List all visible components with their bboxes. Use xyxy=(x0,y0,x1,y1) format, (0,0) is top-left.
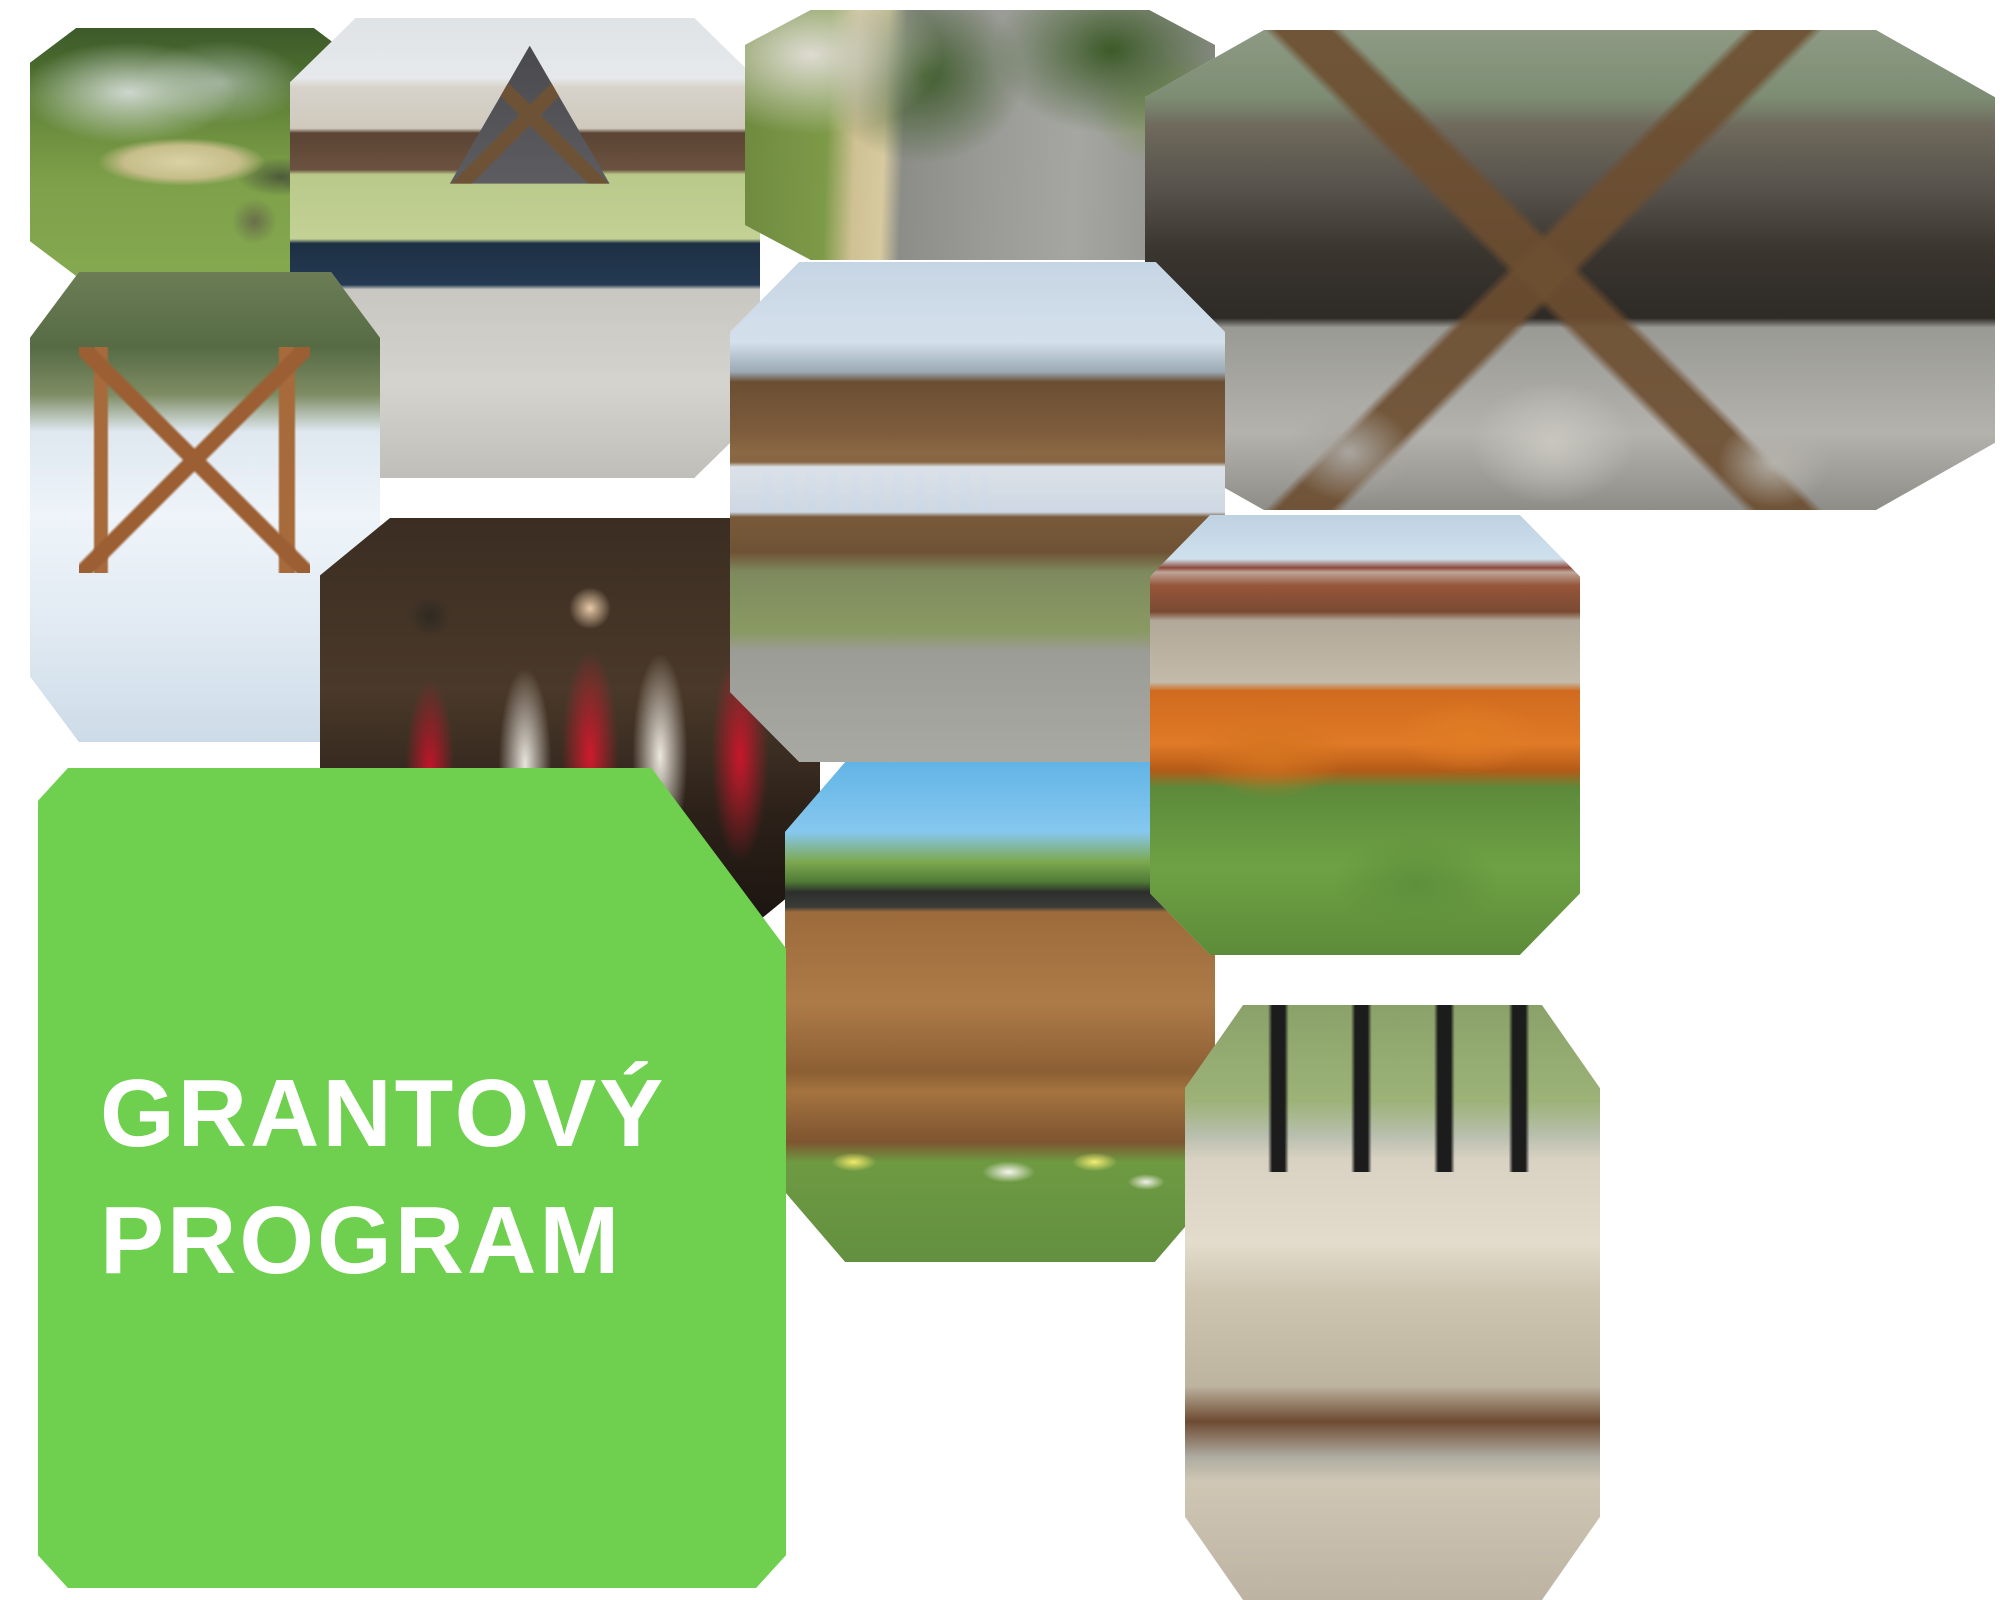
well-and-bench-photo xyxy=(1150,515,1580,955)
spring-well-image xyxy=(1145,30,1995,510)
village-road-photo xyxy=(745,10,1215,260)
museum-interior-image xyxy=(1185,1005,1600,1600)
page-title-line-2: PROGRAM xyxy=(100,1178,786,1305)
well-and-bench-image xyxy=(1150,515,1580,955)
grant-program-poster: GRANTOVÝ PROGRAM xyxy=(0,0,2000,1600)
grant-program-title-panel: GRANTOVÝ PROGRAM xyxy=(38,768,786,1588)
page-title-line-1: GRANTOVÝ xyxy=(100,1051,786,1178)
museum-interior-photo xyxy=(1185,1005,1600,1600)
village-road-image xyxy=(745,10,1215,260)
spring-well-photo xyxy=(1145,30,1995,510)
